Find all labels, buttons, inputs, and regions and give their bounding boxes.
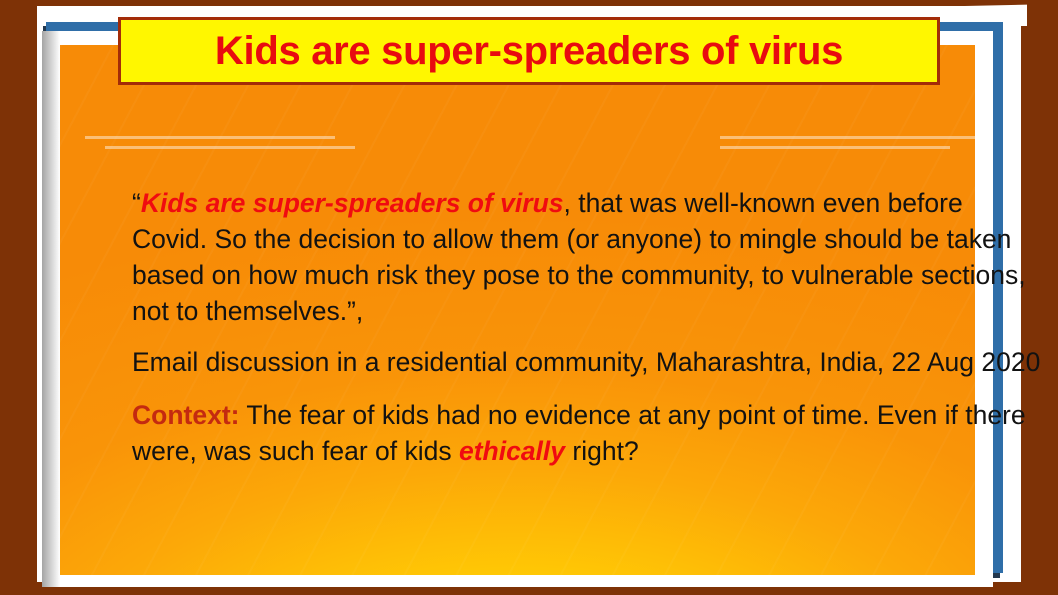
quote-emphasis-phrase: Kids are super-spreaders of virus (141, 188, 564, 218)
decorative-rule-left-lower (105, 146, 355, 149)
page-title: Kids are super-spreaders of virus (215, 31, 843, 71)
decorative-rule-right-upper (720, 136, 977, 139)
decorative-rule-left-upper (85, 136, 335, 139)
decorative-rule-right-lower (720, 146, 950, 149)
frame-inner-shadow (42, 31, 60, 587)
context-label: Context: (132, 400, 239, 430)
body-text-area: “Kids are super-spreaders of virus, that… (132, 185, 1042, 469)
quote-source: Email discussion in a residential commun… (132, 344, 1042, 380)
decorative-rules (60, 133, 975, 159)
quote-open-mark: “ (132, 188, 141, 218)
slide: “Kids are super-spreaders of virus, that… (0, 0, 1058, 595)
context-text-part-two: right? (565, 436, 639, 466)
title-plaque: Kids are super-spreaders of virus (118, 17, 940, 85)
context-paragraph: Context: The fear of kids had no evidenc… (132, 397, 1042, 469)
quote-paragraph: “Kids are super-spreaders of virus, that… (132, 185, 1037, 329)
content-panel: “Kids are super-spreaders of virus, that… (60, 45, 975, 575)
context-emphasis-word: ethically (459, 436, 565, 466)
